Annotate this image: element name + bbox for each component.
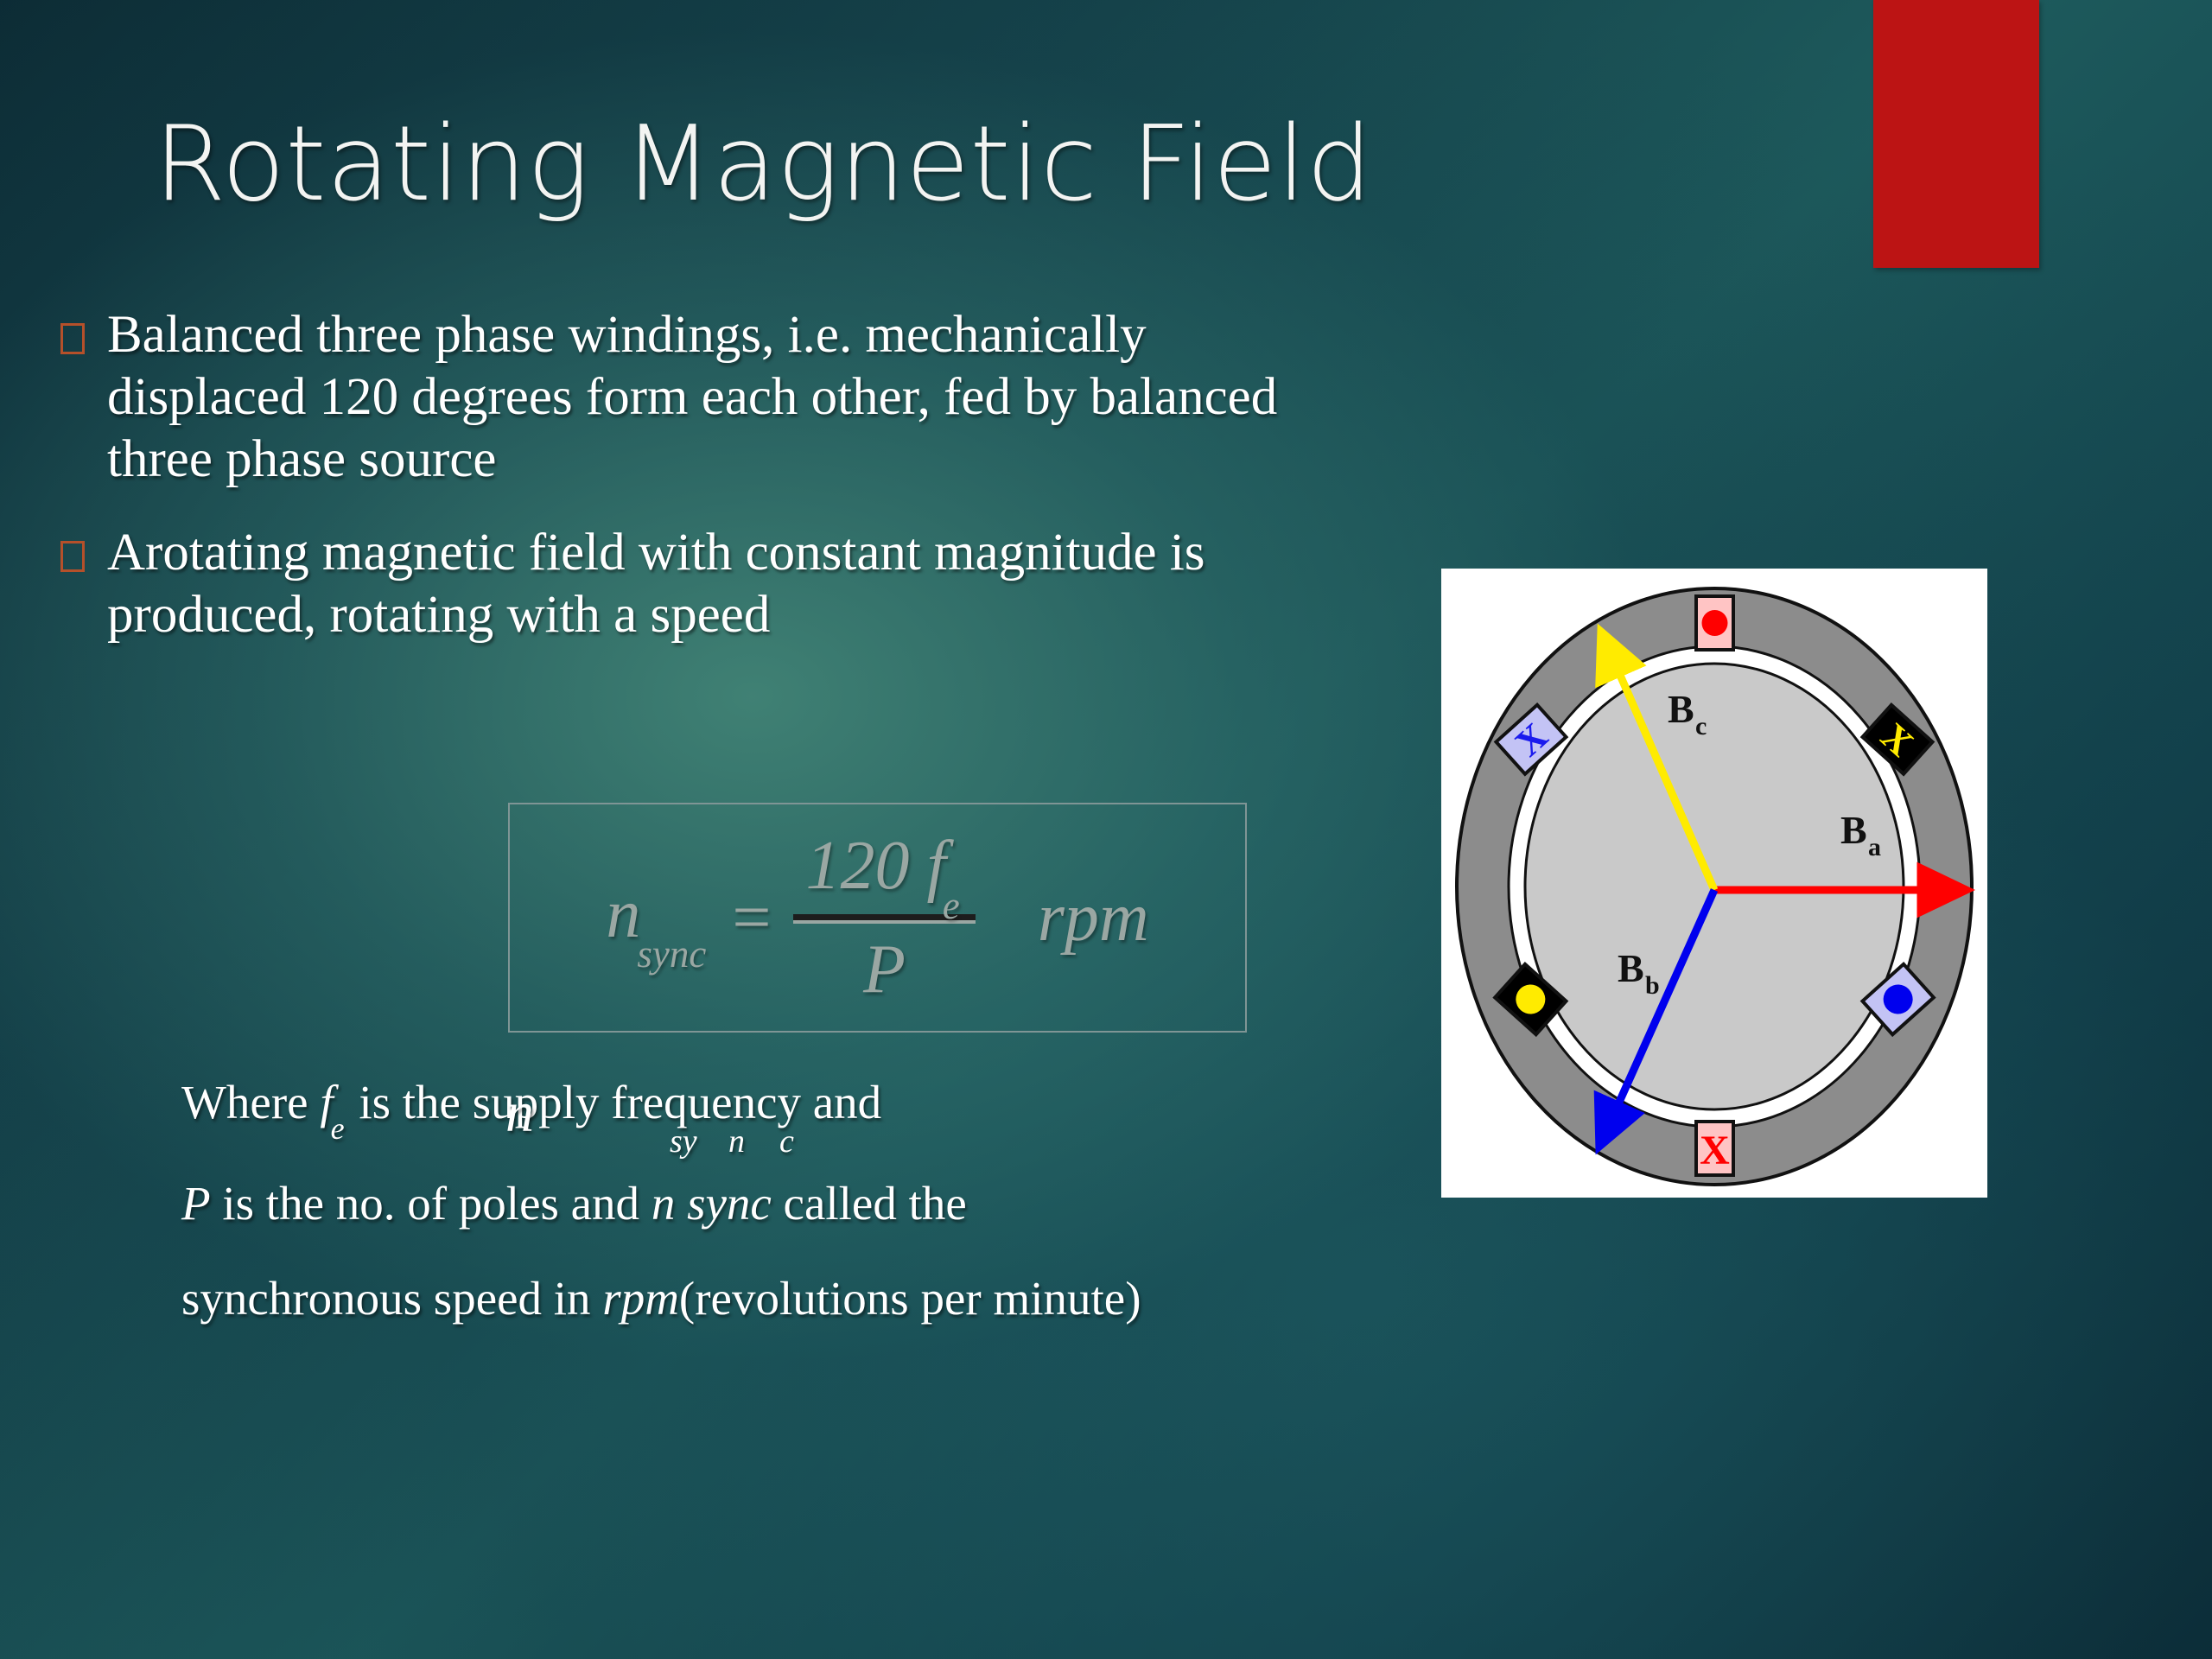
poles-symbol-p: P — [181, 1177, 211, 1230]
svg-text:B: B — [1618, 946, 1644, 990]
slot-a-bottom: X — [1696, 1122, 1733, 1175]
formula-numerator: 120 fe — [793, 827, 975, 914]
overlay-subscript-sy: sy — [670, 1123, 697, 1161]
formula-units: rpm — [1038, 879, 1149, 957]
accent-bar — [1873, 0, 2039, 268]
called-the-text: called the — [772, 1177, 967, 1230]
svg-text:b: b — [1645, 971, 1660, 1000]
slide-canvas: Rotating Magnetic Field Balanced three p… — [0, 0, 2212, 1659]
bullet-text: Balanced three phase windings, i.e. mech… — [107, 304, 1331, 491]
svg-text:a: a — [1868, 833, 1881, 861]
bullet-text: Arotating magnetic field with constant m… — [107, 522, 1331, 646]
svg-text:B: B — [1840, 808, 1867, 852]
fe-subscript: e — [331, 1111, 345, 1146]
square-outline-icon — [60, 323, 85, 354]
rpm-expansion-text: (revolutions per minute) — [679, 1272, 1141, 1325]
synchronous-speed-formula: nsync = 120 fe P rpm — [510, 804, 1245, 1031]
current-in-cross-icon: X — [1700, 1128, 1730, 1173]
where-mid: is the supply frequency and — [347, 1076, 882, 1128]
stator-cross-section-diagram: X X X — [1441, 569, 1987, 1198]
nsync-symbol: n sync — [652, 1177, 772, 1230]
formula-lhs: nsync — [606, 875, 709, 961]
sync-speed-text: synchronous speed in — [181, 1272, 602, 1325]
rpm-symbol: rpm — [602, 1272, 679, 1325]
explanation-line-3: synchronous speed in rpm(revolutions per… — [181, 1271, 1460, 1325]
bullet-list: Balanced three phase windings, i.e. mech… — [60, 304, 1331, 677]
where-prefix: Where — [181, 1076, 320, 1128]
list-item: Balanced three phase windings, i.e. mech… — [60, 304, 1331, 491]
formula-box: nsync = 120 fe P rpm — [508, 803, 1247, 1033]
explanation-line-1: Where fe is the supply frequency and n s… — [181, 1075, 1460, 1136]
poles-text: is the no. of poles and — [211, 1177, 652, 1230]
explanation-line-2: P is the no. of poles and n sync called … — [181, 1176, 1460, 1230]
svg-text:B: B — [1668, 687, 1694, 731]
formula-equals: = — [732, 879, 771, 957]
svg-text:c: c — [1695, 712, 1707, 741]
explanation-block: Where fe is the supply frequency and n s… — [181, 1075, 1460, 1365]
slot-a-prime-top — [1696, 596, 1733, 650]
overlay-subscript-c: c — [779, 1123, 794, 1161]
formula-fraction: 120 fe P — [793, 827, 975, 1009]
list-item: Arotating magnetic field with constant m… — [60, 522, 1331, 646]
square-outline-icon — [60, 541, 85, 572]
current-out-dot-icon — [1702, 610, 1728, 636]
overlay-subscript-n: n — [728, 1123, 745, 1161]
page-title: Rotating Magnetic Field — [154, 111, 1796, 219]
formula-denominator: P — [863, 920, 906, 1009]
overlay-nsync-symbol: n — [505, 1080, 534, 1146]
